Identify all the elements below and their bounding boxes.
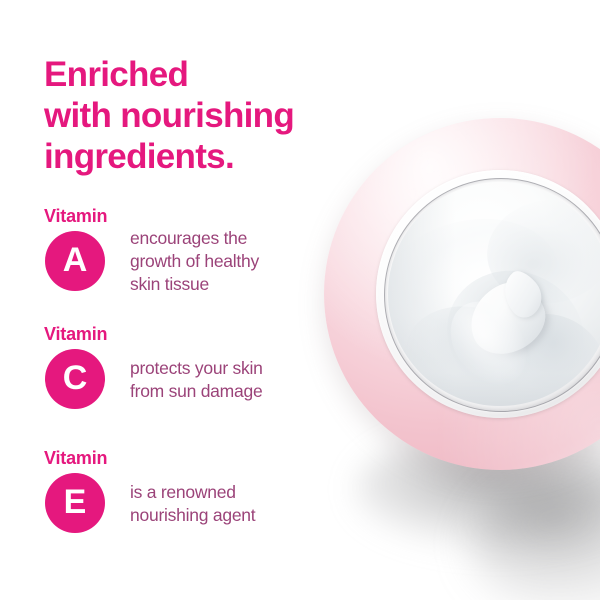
vitamin-e-desc-line-1: is a renowned	[130, 481, 340, 504]
vitamin-a-body: A encourages the growth of healthy skin …	[40, 227, 340, 297]
vitamin-a-badge: A	[45, 231, 105, 291]
vitamin-item-a: Vitamin A encourages the growth of healt…	[40, 206, 340, 297]
vitamin-c-kicker: Vitamin	[44, 324, 340, 345]
vitamin-e-description: is a renowned nourishing agent	[130, 481, 340, 527]
vitamin-e-badge: E	[45, 473, 105, 533]
vitamin-e-desc-line-2: nourishing agent	[130, 504, 340, 527]
vitamin-item-e: Vitamin E is a renowned nourishing agent	[40, 448, 340, 539]
vitamin-a-kicker: Vitamin	[44, 206, 340, 227]
vitamin-e-kicker: Vitamin	[44, 448, 340, 469]
vitamin-c-desc-line-2: from sun damage	[130, 380, 340, 403]
vitamin-a-desc-line-3: skin tissue	[130, 273, 340, 296]
cream-left-shading	[388, 182, 455, 406]
vitamin-c-description: protects your skin from sun damage	[130, 357, 340, 403]
promo-graphic: Enriched with nourishing ingredients. Vi…	[0, 0, 600, 600]
vitamin-c-badge: C	[45, 349, 105, 409]
cream-surface	[388, 182, 600, 406]
headline-line-3: ingredients.	[44, 136, 374, 177]
headline-line-2: with nourishing	[44, 95, 374, 136]
vitamin-c-body: C protects your skin from sun damage	[40, 345, 340, 415]
vitamin-a-desc-line-1: encourages the	[130, 227, 340, 250]
vitamin-item-c: Vitamin C protects your skin from sun da…	[40, 324, 340, 415]
vitamin-e-body: E is a renowned nourishing agent	[40, 469, 340, 539]
vitamin-a-description: encourages the growth of healthy skin ti…	[130, 227, 340, 296]
headline-line-1: Enriched	[44, 54, 374, 95]
page-title: Enriched with nourishing ingredients.	[44, 54, 374, 177]
vitamin-a-desc-line-2: growth of healthy	[130, 250, 340, 273]
vitamin-c-desc-line-1: protects your skin	[130, 357, 340, 380]
